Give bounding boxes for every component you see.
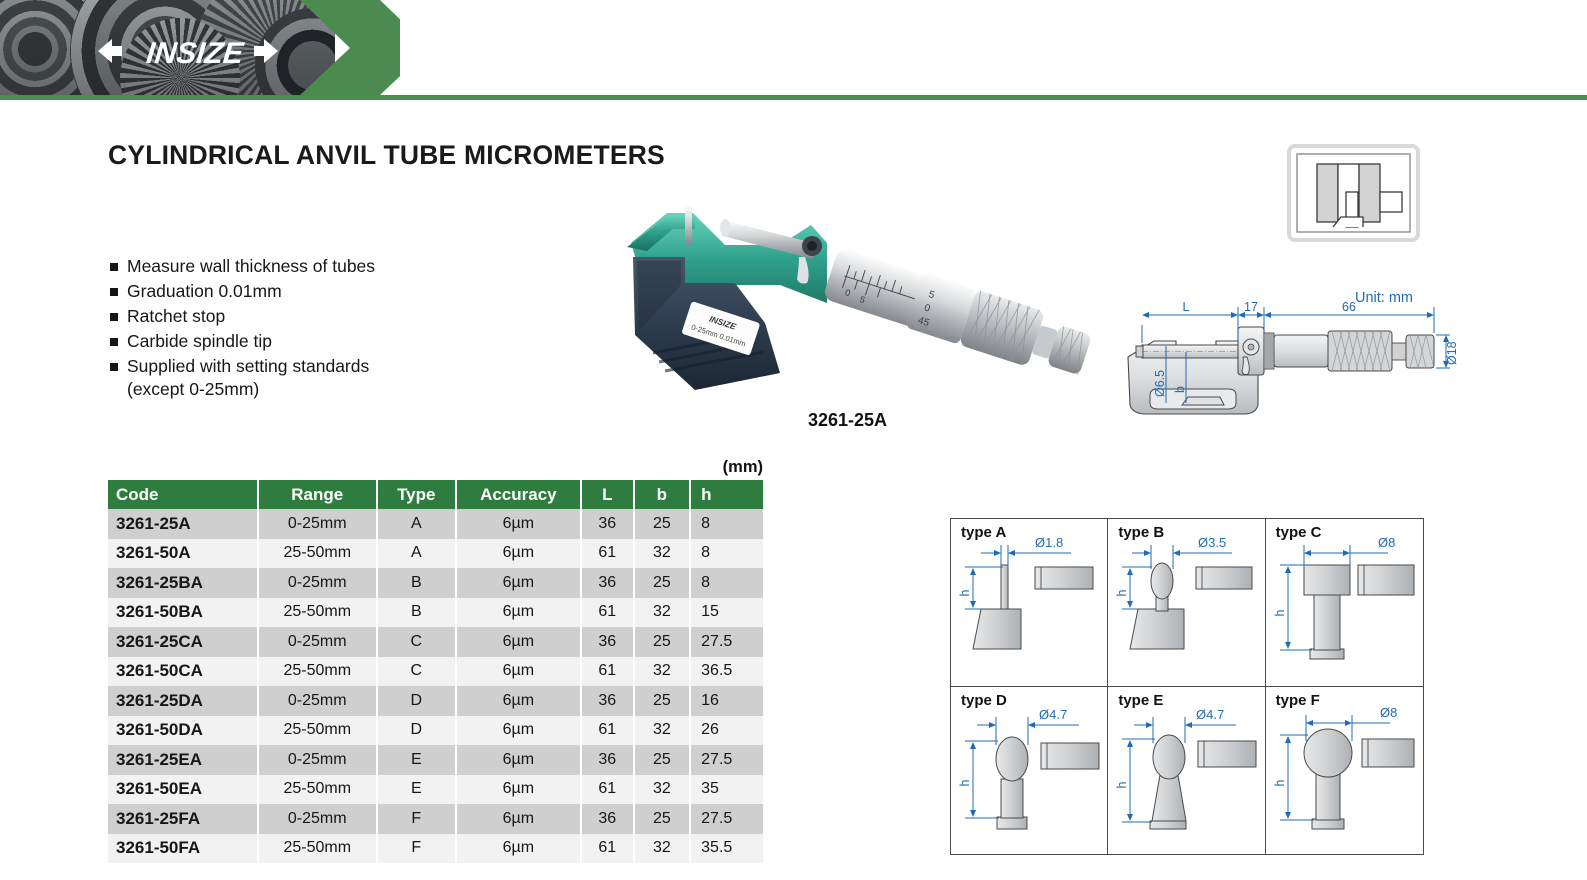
list-item: Measure wall thickness of tubes <box>110 255 540 278</box>
cell-l: 61 <box>581 775 634 805</box>
list-item: Ratchet stop <box>110 305 540 328</box>
cell-l: 61 <box>581 716 634 746</box>
bullet-square-icon <box>110 263 118 271</box>
header-green-rule <box>0 95 1587 100</box>
type-e-spindle <box>1198 741 1256 767</box>
cell-b: 32 <box>634 716 691 746</box>
cell-type: D <box>377 716 456 746</box>
cell-type: C <box>377 657 456 687</box>
type-c-anvil <box>1304 565 1350 595</box>
product-caption: 3261-25A <box>575 410 1120 431</box>
cell-range: 0-25mm <box>258 568 377 598</box>
header-white-area <box>400 0 1587 95</box>
cell-acc: 6µm <box>456 627 581 657</box>
cell-acc: 6µm <box>456 539 581 569</box>
table-body: 3261-25A0-25mmA6µm362583261-50A25-50mmA6… <box>108 509 763 863</box>
cell-b: 25 <box>634 509 691 539</box>
cell-code: 3261-25DA <box>108 686 258 716</box>
type-b-spindle <box>1196 567 1252 589</box>
technical-drawing: L 17 66 Ø6.5 b Ø18 <box>1120 285 1460 430</box>
cell-acc: 6µm <box>456 775 581 805</box>
type-d-dia: Ø4.7 <box>1039 707 1067 722</box>
table-row: 3261-25EA0-25mmE6µm362527.5 <box>108 745 763 775</box>
cell-range: 25-50mm <box>258 657 377 687</box>
list-item: Carbide spindle tip <box>110 330 540 353</box>
type-f-spindle <box>1362 739 1414 767</box>
type-panel-d: type D Ø4.7 h <box>951 687 1108 855</box>
dim-L: L <box>1183 300 1190 314</box>
cell-code: 3261-50A <box>108 539 258 569</box>
cell-l: 61 <box>581 598 634 628</box>
cell-range: 0-25mm <box>258 804 377 834</box>
dim-bore: Ø6.5 <box>1153 370 1167 397</box>
cell-h: 8 <box>690 539 763 569</box>
type-a-anvil <box>1001 565 1008 609</box>
cell-b: 32 <box>634 598 691 628</box>
feature-text: Measure wall thickness of tubes <box>127 256 375 276</box>
cell-type: B <box>377 598 456 628</box>
bullet-square-icon <box>110 338 118 346</box>
page-header: INSIZE <box>0 0 1587 95</box>
anvil-type-diagram-grid: type A Ø1.8 <box>950 518 1424 855</box>
cell-h: 27.5 <box>690 627 763 657</box>
cell-range: 0-25mm <box>258 745 377 775</box>
type-f-h: h <box>1273 779 1287 786</box>
type-d-anvil <box>996 737 1028 781</box>
type-e-h: h <box>1115 781 1129 788</box>
type-a-dia: Ø1.8 <box>1035 535 1063 550</box>
cell-b: 32 <box>634 775 691 805</box>
type-c-h: h <box>1273 609 1287 616</box>
column-header-l: L <box>581 480 634 509</box>
bullet-square-icon <box>110 363 118 371</box>
type-c-dia: Ø8 <box>1378 535 1395 550</box>
cell-code: 3261-50DA <box>108 716 258 746</box>
cell-type: E <box>377 745 456 775</box>
type-b-h: h <box>1115 589 1129 596</box>
cell-l: 36 <box>581 509 634 539</box>
feature-subtext: (except 0-25mm) <box>127 378 369 401</box>
cell-code: 3261-50BA <box>108 598 258 628</box>
type-panel-e: type E Ø4.7 h <box>1108 687 1265 855</box>
cell-l: 61 <box>581 657 634 687</box>
type-e-dia: Ø4.7 <box>1196 707 1224 722</box>
list-item: Supplied with setting standards (except … <box>110 355 540 401</box>
type-panel-a: type A Ø1.8 <box>951 519 1108 687</box>
cell-code: 3261-50FA <box>108 834 258 864</box>
feature-text: Ratchet stop <box>127 306 225 326</box>
type-e-anvil <box>1153 735 1185 779</box>
table-row: 3261-25DA0-25mmD6µm362516 <box>108 686 763 716</box>
table-row: 3261-25A0-25mmA6µm36258 <box>108 509 763 539</box>
column-header-b: b <box>634 480 691 509</box>
table-row: 3261-50CA25-50mmC6µm613236.5 <box>108 657 763 687</box>
type-f-anvil <box>1304 729 1352 777</box>
cell-acc: 6µm <box>456 568 581 598</box>
cell-type: A <box>377 539 456 569</box>
column-header-range: Range <box>258 480 377 509</box>
cell-acc: 6µm <box>456 804 581 834</box>
cell-code: 3261-25EA <box>108 745 258 775</box>
table-row: 3261-50DA25-50mmD6µm613226 <box>108 716 763 746</box>
dim-b: b <box>1173 386 1187 393</box>
features-list: Measure wall thickness of tubes Graduati… <box>110 255 540 403</box>
cell-acc: 6µm <box>456 745 581 775</box>
product-photo: 0 5 5 0 45 INSIZE 0-25mm 0.01m <box>575 185 1120 400</box>
cell-type: F <box>377 804 456 834</box>
cell-b: 32 <box>634 657 691 687</box>
page-title: CYLINDRICAL ANVIL TUBE MICROMETERS <box>108 140 665 171</box>
type-b-dia: Ø3.5 <box>1198 535 1226 550</box>
cell-h: 8 <box>690 509 763 539</box>
cell-b: 25 <box>634 627 691 657</box>
cell-b: 25 <box>634 568 691 598</box>
cell-type: B <box>377 568 456 598</box>
cell-range: 25-50mm <box>258 834 377 864</box>
column-header-code: Code <box>108 480 258 509</box>
bullet-square-icon <box>110 313 118 321</box>
table-row: 3261-50A25-50mmA6µm61328 <box>108 539 763 569</box>
column-header-h: h <box>690 480 763 509</box>
cell-acc: 6µm <box>456 716 581 746</box>
cell-h: 35 <box>690 775 763 805</box>
cell-code: 3261-50CA <box>108 657 258 687</box>
cell-type: E <box>377 775 456 805</box>
cell-range: 25-50mm <box>258 716 377 746</box>
cell-code: 3261-50EA <box>108 775 258 805</box>
table-unit-note: (mm) <box>600 458 763 477</box>
specification-table: Code Range Type Accuracy L b h 3261-25A0… <box>108 480 763 863</box>
cell-b: 25 <box>634 804 691 834</box>
type-a-spindle <box>1035 567 1093 589</box>
cell-h: 27.5 <box>690 745 763 775</box>
cell-acc: 6µm <box>456 657 581 687</box>
type-a-h: h <box>958 589 972 596</box>
dim-66: 66 <box>1342 300 1356 314</box>
cell-h: 26 <box>690 716 763 746</box>
table-row: 3261-25BA0-25mmB6µm36258 <box>108 568 763 598</box>
type-f-dia: Ø8 <box>1380 705 1397 720</box>
cell-type: A <box>377 509 456 539</box>
table-row: 3261-50EA25-50mmE6µm613235 <box>108 775 763 805</box>
drawing-thimble <box>1328 331 1392 371</box>
cell-h: 27.5 <box>690 804 763 834</box>
application-diagram-icon <box>1287 144 1420 242</box>
cell-b: 32 <box>634 834 691 864</box>
cell-range: 25-50mm <box>258 539 377 569</box>
cell-l: 36 <box>581 686 634 716</box>
cell-l: 36 <box>581 745 634 775</box>
type-c-spindle <box>1358 565 1414 595</box>
cylindrical-anvil <box>685 205 692 245</box>
feature-text: Supplied with setting standards <box>127 356 369 376</box>
cell-l: 36 <box>581 804 634 834</box>
type-d-spindle <box>1041 743 1099 769</box>
feature-text: Graduation 0.01mm <box>127 281 282 301</box>
cell-code: 3261-25A <box>108 509 258 539</box>
column-header-accuracy: Accuracy <box>456 480 581 509</box>
feature-text: Carbide spindle tip <box>127 331 272 351</box>
cell-type: F <box>377 834 456 864</box>
cell-b: 32 <box>634 539 691 569</box>
cell-range: 0-25mm <box>258 509 377 539</box>
cell-range: 0-25mm <box>258 686 377 716</box>
cell-code: 3261-25BA <box>108 568 258 598</box>
cell-acc: 6µm <box>456 686 581 716</box>
cell-h: 15 <box>690 598 763 628</box>
bullet-square-icon <box>110 288 118 296</box>
cell-l: 61 <box>581 834 634 864</box>
cell-l: 36 <box>581 627 634 657</box>
drawing-sleeve <box>1274 335 1328 367</box>
dim-17: 17 <box>1244 300 1258 314</box>
list-item: Graduation 0.01mm <box>110 280 540 303</box>
cell-acc: 6µm <box>456 598 581 628</box>
cell-h: 36.5 <box>690 657 763 687</box>
insize-wordmark: INSIZE <box>145 37 246 69</box>
cell-acc: 6µm <box>456 509 581 539</box>
table-row: 3261-50FA25-50mmF6µm613235.5 <box>108 834 763 864</box>
type-panel-f: type F Ø8 h <box>1266 687 1423 855</box>
cell-l: 61 <box>581 539 634 569</box>
cell-b: 25 <box>634 686 691 716</box>
column-header-type: Type <box>377 480 456 509</box>
type-panel-c: type C Ø8 h <box>1266 519 1423 687</box>
dim-dia18: Ø18 <box>1445 341 1459 365</box>
cell-range: 25-50mm <box>258 598 377 628</box>
cell-h: 8 <box>690 568 763 598</box>
cell-l: 36 <box>581 568 634 598</box>
type-b-anvil <box>1151 563 1173 599</box>
cell-range: 25-50mm <box>258 775 377 805</box>
cell-code: 3261-25FA <box>108 804 258 834</box>
cell-h: 35.5 <box>690 834 763 864</box>
cell-acc: 6µm <box>456 834 581 864</box>
type-d-h: h <box>958 779 972 786</box>
cell-type: C <box>377 627 456 657</box>
insize-logo-icon: INSIZE <box>98 33 278 69</box>
table-row: 3261-25CA0-25mmC6µm362527.5 <box>108 627 763 657</box>
table-row: 3261-50BA25-50mmB6µm613215 <box>108 598 763 628</box>
cell-type: D <box>377 686 456 716</box>
cell-range: 0-25mm <box>258 627 377 657</box>
cell-h: 16 <box>690 686 763 716</box>
table-row: 3261-25FA0-25mmF6µm362527.5 <box>108 804 763 834</box>
table-header-row: Code Range Type Accuracy L b h <box>108 480 763 509</box>
cell-code: 3261-25CA <box>108 627 258 657</box>
type-panel-b: type B Ø3.5 h <box>1108 519 1265 687</box>
cell-b: 25 <box>634 745 691 775</box>
